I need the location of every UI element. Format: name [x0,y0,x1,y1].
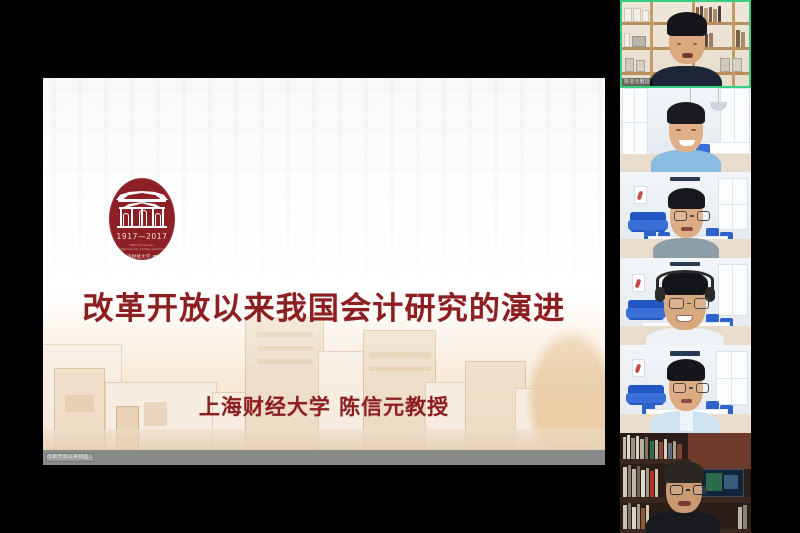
presentation-slide[interactable]: 1917—2017 100th Anniversary Shanghai Uni… [43,78,605,450]
participant-tile-3[interactable] [620,172,751,258]
participant-filmstrip[interactable]: 陈信元教授 [620,0,751,533]
participant-tile-4[interactable] [620,258,751,345]
gate-illustration [116,191,168,227]
participant-tile-6[interactable] [620,433,751,533]
participant-tile-5[interactable] [620,345,751,433]
logo-wordmark-block [153,255,162,259]
video-background-library [620,433,751,533]
participant-tile-1[interactable]: 陈信元教授 [620,0,751,88]
logo-subtitle-en-2: Shanghai University of Finance and Econo… [116,248,169,251]
meeting-stage: 1917—2017 100th Anniversary Shanghai Uni… [0,0,800,533]
shared-screen-taskbar[interactable]: 改革开放以来我国... [43,450,605,465]
video-background-bright-room [620,345,751,433]
video-background-bright-room [620,258,751,345]
taskbar-window-button[interactable]: 改革开放以来我国... [46,453,94,462]
video-background-bright-room [620,88,751,172]
logo-wordmark: 上海财经大学 [122,254,161,260]
slide-subtitle: 上海财经大学 陈信元教授 [43,391,605,421]
shufe-centennial-logo: 1917—2017 100th Anniversary Shanghai Uni… [109,178,175,260]
logo-wordmark-text: 上海财经大学 [122,254,150,260]
slide-title: 改革开放以来我国会计研究的演进 [43,283,605,328]
logo-subtitle-en-1: 100th Anniversary [130,243,155,247]
participant-name-label: 陈信元教授 [622,78,652,86]
video-background-bright-room [620,172,751,258]
shared-screen-region[interactable]: 1917—2017 100th Anniversary Shanghai Uni… [0,0,614,533]
logo-years: 1917—2017 [116,232,167,241]
participant-tile-2[interactable] [620,88,751,172]
video-background-bookshelf [620,0,751,88]
